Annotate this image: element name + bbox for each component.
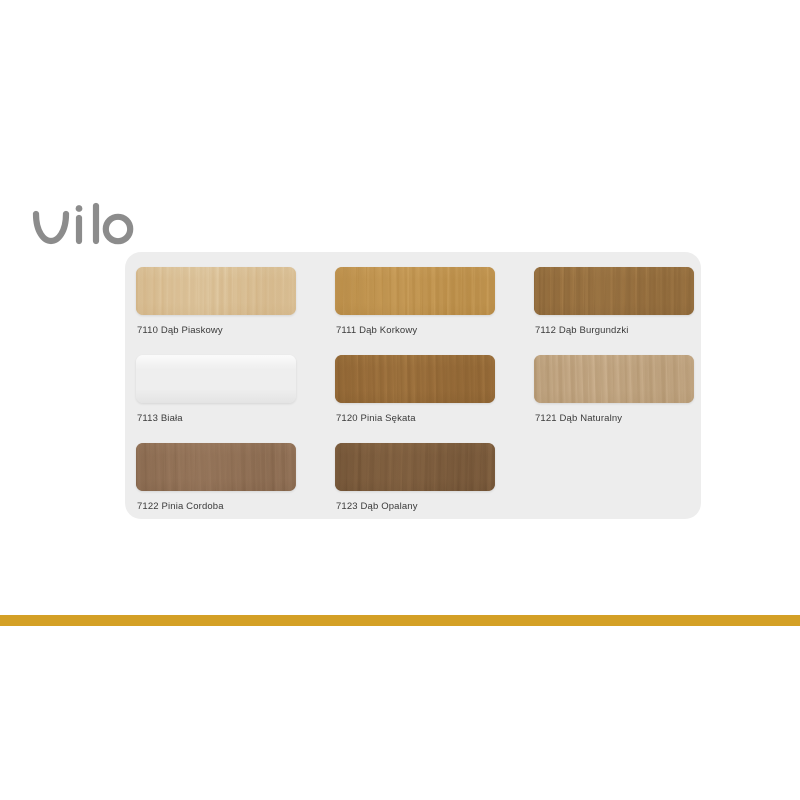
swatch-item-7113[interactable]: 7113 Biała — [136, 355, 335, 443]
swatch-item-7120[interactable]: 7120 Pinia Sękata — [335, 355, 534, 443]
wood-grain-texture — [534, 267, 694, 315]
wood-grain-texture — [136, 443, 296, 491]
swatch-chip-7110[interactable] — [136, 267, 296, 315]
swatch-chip-7123[interactable] — [335, 443, 495, 491]
swatch-label-7110: 7110 Dąb Piaskowy — [137, 325, 223, 336]
swatch-item-7123[interactable]: 7123 Dąb Opalany — [335, 443, 534, 531]
swatch-item-7122[interactable]: 7122 Pinia Cordoba — [136, 443, 335, 531]
swatch-label-7112: 7112 Dąb Burgundzki — [535, 325, 629, 336]
swatch-label-7111: 7111 Dąb Korkowy — [336, 325, 417, 336]
wood-grain-texture — [335, 267, 495, 315]
swatch-chip-7121[interactable] — [534, 355, 694, 403]
vilo-logo — [26, 196, 146, 252]
swatch-chip-7120[interactable] — [335, 355, 495, 403]
swatch-item-7121[interactable]: 7121 Dąb Naturalny — [534, 355, 696, 443]
swatch-chip-7111[interactable] — [335, 267, 495, 315]
swatch-label-7113: 7113 Biała — [137, 413, 183, 424]
swatch-chip-7112[interactable] — [534, 267, 694, 315]
swatch-label-7121: 7121 Dąb Naturalny — [535, 413, 622, 424]
letter-o — [106, 217, 130, 241]
swatch-chip-7113[interactable] — [136, 355, 296, 403]
wood-grain-texture — [136, 267, 296, 315]
swatch-grid: 7110 Dąb Piaskowy 7111 Dąb Korkowy 7112 … — [136, 267, 696, 531]
gold-divider-bar — [0, 615, 800, 626]
wood-grain-texture — [335, 355, 495, 403]
swatch-item-7111[interactable]: 7111 Dąb Korkowy — [335, 267, 534, 355]
swatch-label-7123: 7123 Dąb Opalany — [336, 501, 418, 512]
swatch-slot-empty — [534, 443, 696, 531]
vilo-wordmark-icon — [26, 196, 146, 252]
swatch-label-7122: 7122 Pinia Cordoba — [137, 501, 224, 512]
wood-grain-texture — [534, 355, 694, 403]
swatch-label-7120: 7120 Pinia Sękata — [336, 413, 416, 424]
letter-i-dot — [76, 205, 83, 212]
swatch-chip-7122[interactable] — [136, 443, 296, 491]
swatch-item-7112[interactable]: 7112 Dąb Burgundzki — [534, 267, 696, 355]
wood-grain-texture — [335, 443, 495, 491]
swatch-item-7110[interactable]: 7110 Dąb Piaskowy — [136, 267, 335, 355]
decor-swatch-card: 7110 Dąb Piaskowy 7111 Dąb Korkowy 7112 … — [125, 252, 701, 519]
solid-color-texture — [136, 355, 296, 403]
